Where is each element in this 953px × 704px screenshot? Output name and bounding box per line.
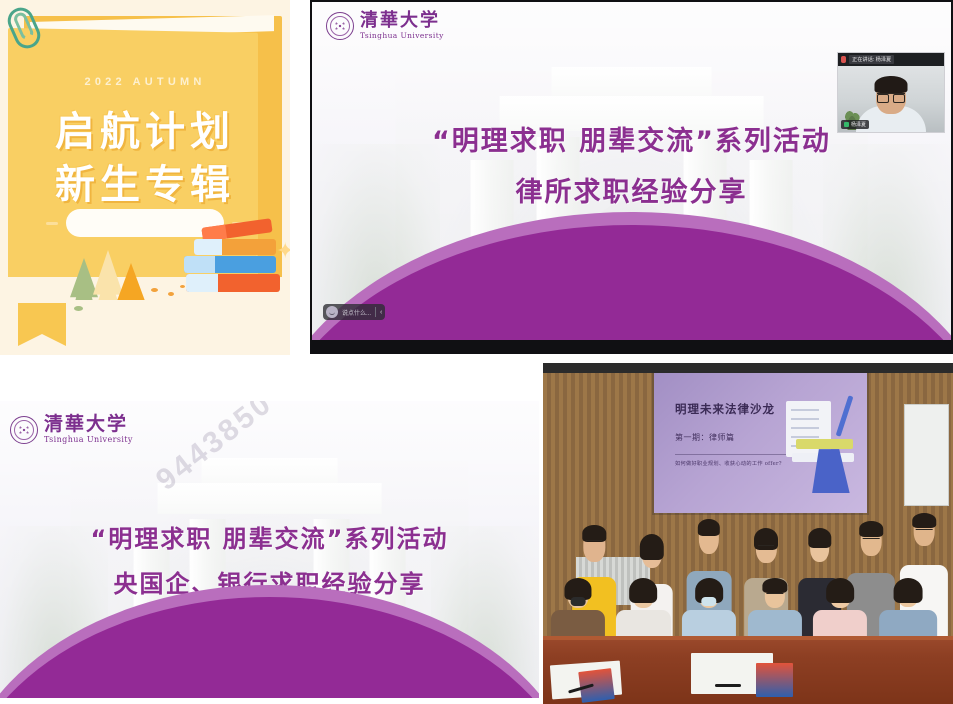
document-pen-illustration-icon <box>782 393 854 494</box>
pill-dash-left <box>46 222 58 225</box>
poster-title-line1: 启航计划 <box>0 99 290 157</box>
leaf-fleck <box>151 288 158 292</box>
chat-placeholder: 说点什么... <box>342 308 371 317</box>
pen-icon <box>715 684 741 687</box>
mic-active-icon <box>844 122 849 127</box>
poster-title-line2: 新生专辑 <box>0 152 290 210</box>
tsinghua-logo-en: Tsinghua University <box>44 436 133 444</box>
brochure-icon <box>756 663 793 697</box>
participant-name-chip: 杨泽夏 <box>841 120 869 129</box>
bank-title-line1: “明理求职 朋辈交流”系列活动 <box>0 519 539 554</box>
participant-video-tile[interactable]: 正在讲话: 杨泽夏 杨泽夏 <box>837 52 945 133</box>
projected-slide-subtitle: 第一期：律师篇 <box>675 432 735 443</box>
ceiling-strip <box>543 363 953 373</box>
whiteboard-icon <box>904 404 949 506</box>
projected-slide-rule <box>675 454 786 455</box>
tsinghua-logo: 清華大学 Tsinghua University <box>326 12 444 40</box>
microphone-icon <box>841 56 846 63</box>
tsinghua-logo-cn: 清華大学 <box>360 12 444 30</box>
user-avatar-icon <box>326 306 338 318</box>
projected-slide-title: 明理未来法律沙龙 <box>675 401 775 417</box>
tsinghua-logo: 清華大学 Tsinghua University <box>10 415 133 444</box>
bank-slide-panel: 9443850 清華大学 Tsinghua University “明理求职 朋… <box>0 363 539 704</box>
tsinghua-logo-en: Tsinghua University <box>360 32 444 40</box>
video-status-label: 正在讲话: 杨泽夏 <box>849 55 894 64</box>
projected-slide-note: 如何做好职业规划、收获心动的工作 offer? <box>675 460 782 467</box>
webinar-title-line2: 律所求职经验分享 <box>312 170 951 209</box>
chat-divider <box>375 307 376 317</box>
webinar-slide-panel: 清華大学 Tsinghua University “明理求职 朋辈交流”系列活动… <box>310 0 953 354</box>
group-photo-panel: 明理未来法律沙龙 第一期：律师篇 如何做好职业规划、收获心动的工作 offer? <box>543 363 953 704</box>
screenshot-canvas: 2022 AUTUMN 启航计划 新生专辑 ✦ ✦ ✦ ✦ <box>0 0 953 704</box>
autumn-poster-panel: 2022 AUTUMN 启航计划 新生专辑 ✦ ✦ ✦ ✦ <box>0 0 290 355</box>
sprout-icon <box>74 306 83 311</box>
projector-screen: 明理未来法律沙龙 第一期：律师篇 如何做好职业规划、收获心动的工作 offer? <box>654 373 867 513</box>
tsinghua-logo-cn: 清華大学 <box>44 415 133 434</box>
chat-input-bar[interactable]: 说点什么... ‹ <box>323 304 385 320</box>
participant-name: 杨泽夏 <box>851 121 866 128</box>
tsinghua-seal-icon <box>326 12 354 40</box>
tsinghua-seal-icon <box>10 416 38 444</box>
poster-eyebrow: 2022 AUTUMN <box>0 76 290 88</box>
bank-slide-surface: 9443850 清華大学 Tsinghua University “明理求职 朋… <box>0 401 539 698</box>
video-status-bar: 正在讲话: 杨泽夏 <box>838 53 944 66</box>
chevron-left-icon[interactable]: ‹ <box>380 309 382 316</box>
